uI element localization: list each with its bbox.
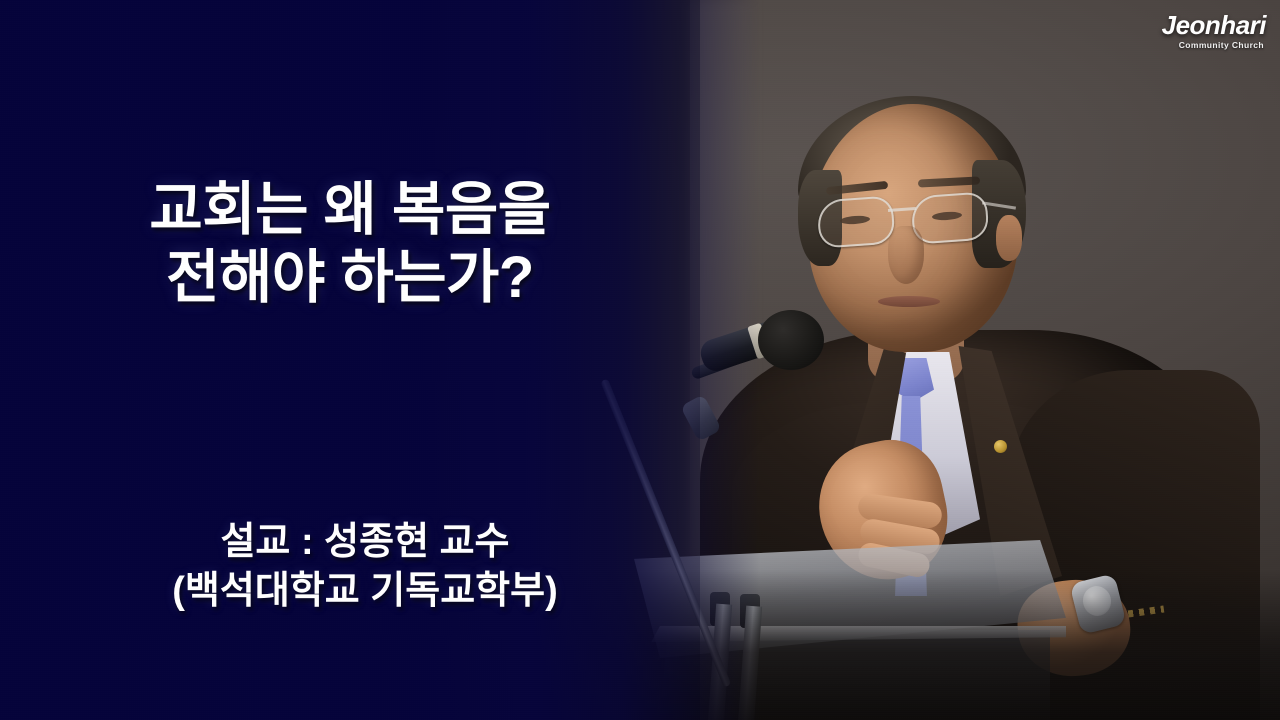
mouth <box>878 296 940 307</box>
lapel-pin-icon <box>994 440 1007 453</box>
ear <box>996 215 1022 261</box>
speaker-affiliation-line: (백석대학교 기독교학부) <box>0 567 730 616</box>
speaker-credit: 설교 : 성종현 교수 (백석대학교 기독교학부) <box>0 518 730 617</box>
eyeglasses-lens-right <box>910 191 989 244</box>
sermon-title-line-2: 전해야 하는가? <box>0 244 700 312</box>
eyeglasses-icon <box>816 195 895 248</box>
nose <box>888 226 924 284</box>
logo-wordmark: Jeonhari <box>1162 12 1266 38</box>
church-logo: Jeonhari Community Church <box>1162 12 1266 50</box>
sermon-title-slide: 교회는 왜 복음을 전해야 하는가? 설교 : 성종현 교수 (백석대학교 기독… <box>0 0 1280 720</box>
speaker-name-line: 설교 : 성종현 교수 <box>0 518 730 567</box>
microphone-windscreen <box>758 310 824 370</box>
chin-shadow <box>856 318 962 348</box>
sermon-title: 교회는 왜 복음을 전해야 하는가? <box>0 176 700 313</box>
sermon-title-line-1: 교회는 왜 복음을 <box>0 176 700 244</box>
logo-tagline: Community Church <box>1162 41 1264 50</box>
